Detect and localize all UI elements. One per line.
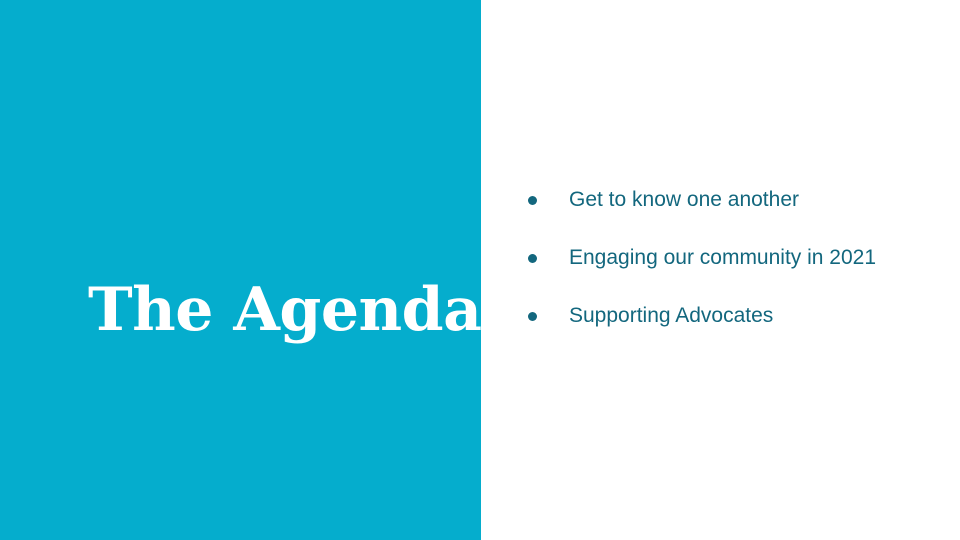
agenda-item-label: Engaging our community in 2021: [569, 244, 876, 272]
page-title: The Agenda: [88, 40, 418, 540]
presentation-slide: The Agenda Get to know one another Engag…: [0, 0, 960, 540]
bullet-icon: [528, 196, 537, 205]
agenda-item-label: Supporting Advocates: [569, 302, 773, 330]
bullet-icon: [528, 312, 537, 321]
list-item: Supporting Advocates: [528, 302, 948, 360]
bullet-icon: [528, 254, 537, 263]
list-item: Get to know one another: [528, 186, 948, 244]
title-panel: The Agenda: [0, 0, 481, 540]
list-item: Engaging our community in 2021: [528, 244, 948, 302]
agenda-panel: Get to know one another Engaging our com…: [481, 0, 960, 540]
agenda-list: Get to know one another Engaging our com…: [528, 186, 948, 360]
agenda-item-label: Get to know one another: [569, 186, 799, 214]
